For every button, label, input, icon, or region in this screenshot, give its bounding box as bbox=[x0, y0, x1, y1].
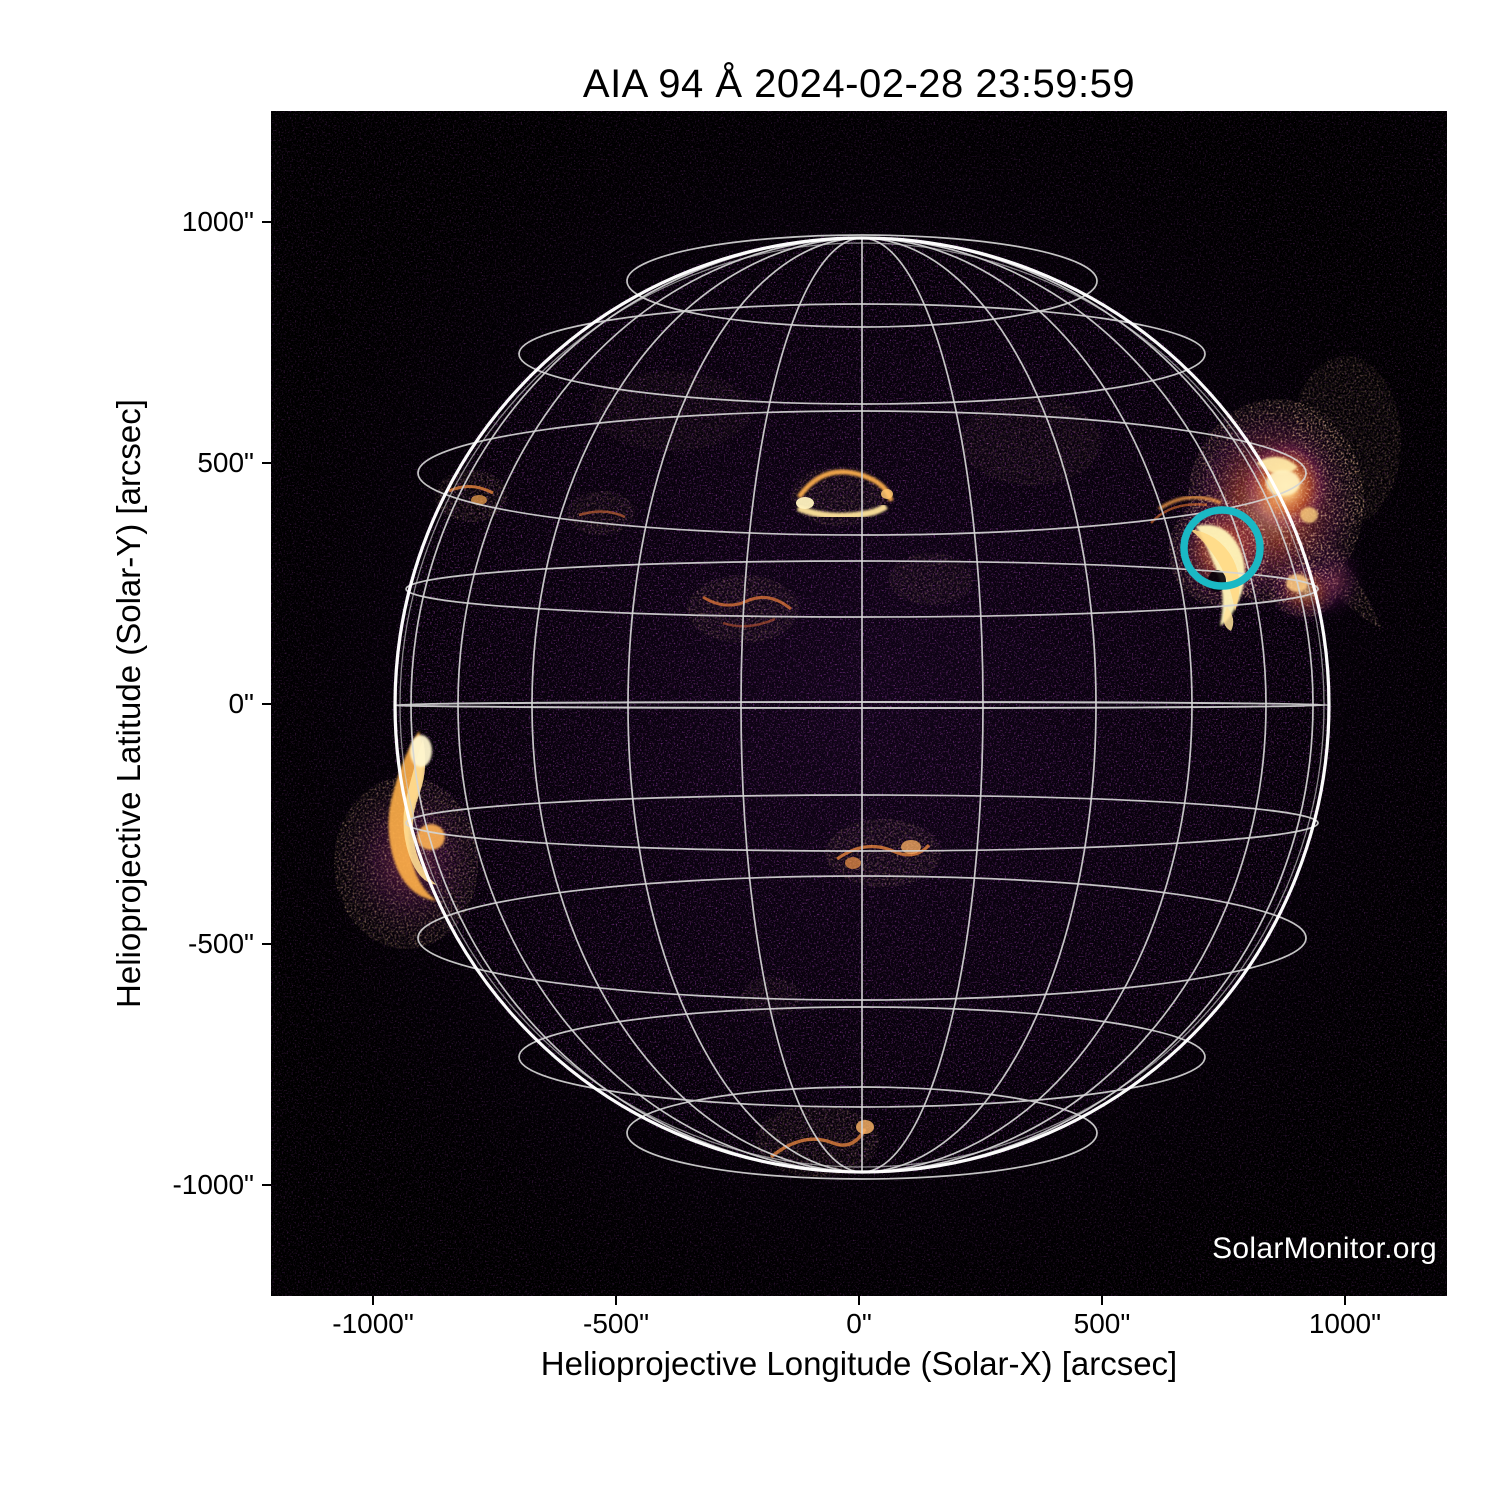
x-tick-mark bbox=[372, 1296, 374, 1305]
figure-title: AIA 94 Å 2024-02-28 23:59:59 bbox=[271, 62, 1447, 107]
x-tick-label: -500" bbox=[583, 1308, 649, 1340]
y-tick-mark bbox=[262, 1184, 271, 1186]
solar-disk-render bbox=[271, 111, 1447, 1296]
y-axis-label: Helioprojective Latitude (Solar-Y) [arcs… bbox=[110, 111, 150, 1296]
x-tick-label: -1000" bbox=[332, 1308, 414, 1340]
solar-image-plot-area[interactable]: SolarMonitor.org bbox=[271, 111, 1447, 1296]
x-tick-mark bbox=[615, 1296, 617, 1305]
y-tick-label: -500" bbox=[188, 928, 254, 960]
solar-image-figure: AIA 94 Å 2024-02-28 23:59:59 bbox=[0, 0, 1500, 1500]
watermark-label: SolarMonitor.org bbox=[1212, 1232, 1437, 1266]
y-tick-mark bbox=[262, 462, 271, 464]
y-tick-label: 500" bbox=[197, 447, 254, 479]
x-tick-mark bbox=[858, 1296, 860, 1305]
x-tick-mark bbox=[1101, 1296, 1103, 1305]
x-tick-label: 500" bbox=[1074, 1308, 1131, 1340]
y-tick-mark bbox=[262, 703, 271, 705]
y-tick-label: 0" bbox=[228, 688, 254, 720]
x-tick-label: 0" bbox=[846, 1308, 872, 1340]
y-tick-label: -1000" bbox=[172, 1169, 254, 1201]
y-tick-label: 1000" bbox=[182, 206, 254, 238]
y-tick-mark bbox=[262, 943, 271, 945]
x-tick-label: 1000" bbox=[1309, 1308, 1381, 1340]
x-tick-mark bbox=[1344, 1296, 1346, 1305]
x-axis-label: Helioprojective Longitude (Solar-X) [arc… bbox=[271, 1345, 1447, 1383]
y-tick-mark bbox=[262, 221, 271, 223]
